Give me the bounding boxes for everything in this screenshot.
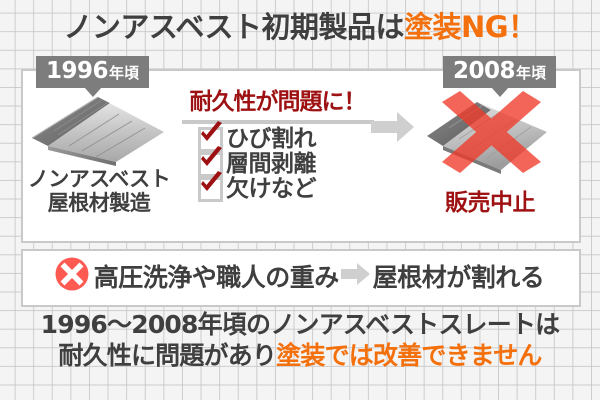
checklist-item-label: ひび割れ [226, 127, 316, 152]
process-arrow-right-icon [371, 110, 415, 148]
left-stage-label: ノンアスベスト 屋根材製造 [24, 168, 174, 215]
year-badge-2008: 2008年頃 [443, 56, 556, 88]
infographic-canvas: ノンアスベスト初期製品は塗装NG！ 1996年頃 2008年頃 [0, 0, 600, 400]
roof-slate-icon [24, 88, 174, 166]
year-badge-1996-suffix: 年頃 [109, 62, 139, 83]
summary-line-1: 1996〜2008年頃のノンアスベストスレートは [0, 310, 600, 341]
year-badge-1996-year: 1996 [46, 58, 108, 84]
summary-line-2: 耐久性に問題があり塗装では改善できません [0, 341, 600, 372]
right-stage-label: 販売中止 [415, 183, 565, 217]
warning-cause-text: 高圧洗浄や職人の重み [94, 258, 339, 294]
page-title: ノンアスベスト初期製品は塗装NG！ [0, 4, 600, 46]
summary-text: 1996〜2008年頃のノンアスベストスレートは 耐久性に問題があり塗装では改善… [0, 310, 600, 371]
left-stage-label-line2: 屋根材製造 [24, 192, 174, 216]
title-highlight-text: 塗装NG！ [404, 10, 537, 44]
warning-banner: 高圧洗浄や職人の重み 屋根材が割れる [21, 249, 577, 303]
durability-heading: 耐久性が問題に！ [180, 82, 375, 116]
durability-issue-group: 耐久性が問題に！ ひび割れ 層間剥離 欠 [180, 82, 375, 202]
right-stage-group: 販売中止 [415, 88, 565, 217]
left-stage-label-line1: ノンアスベスト [24, 168, 174, 192]
left-stage-group: ノンアスベスト 屋根材製造 [24, 88, 174, 215]
year-badge-2008-year: 2008 [453, 58, 515, 84]
year-badge-1996: 1996年頃 [36, 56, 149, 88]
roof-slate-crossed-icon [415, 88, 565, 183]
checklist-item: 欠けなど [198, 177, 375, 202]
year-badge-2008-suffix: 年頃 [516, 62, 546, 83]
checklist-item-label: 層間剥離 [226, 152, 316, 177]
checklist-item: 層間剥離 [198, 152, 375, 177]
checklist-item: ひび割れ [198, 127, 375, 152]
checklist-item-label: 欠けなど [226, 177, 316, 202]
arrow-right-icon [341, 262, 371, 290]
summary-line-2-plain: 耐久性に問題があり [58, 341, 276, 370]
x-circle-icon [54, 256, 90, 296]
title-plain-text: ノンアスベスト初期製品は [63, 10, 404, 44]
check-box-icon [198, 177, 223, 202]
summary-line-2-highlight: 塗装では改善できません [276, 341, 541, 370]
warning-result-text: 屋根材が割れる [373, 258, 545, 294]
